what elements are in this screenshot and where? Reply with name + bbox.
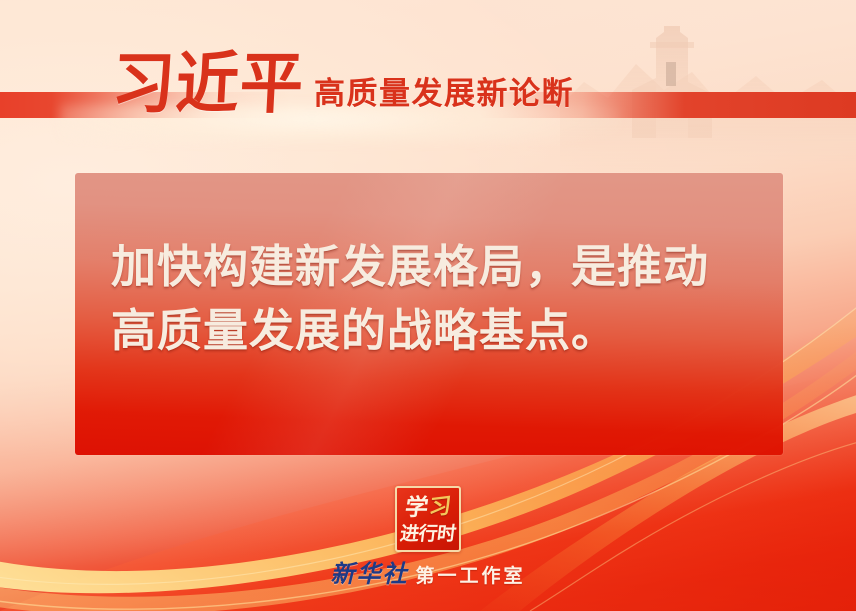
poster-footer: 学 习 进行时 新华社 第一工作室 xyxy=(0,486,856,586)
logo-char-xue: 学 xyxy=(403,497,429,520)
poster-root: 习近平 高质量发展新论断 加快构建新发展格局，是推动高质量发展的战略基点。 学 … xyxy=(0,0,856,611)
logo-char-xi: 习 xyxy=(428,496,452,521)
page-title: 习近平 xyxy=(110,50,305,117)
credit-line: 新华社 第一工作室 xyxy=(330,562,525,586)
logo-bottom-row: 进行时 xyxy=(399,525,457,544)
poster-header: 习近平 高质量发展新论断 xyxy=(112,52,574,115)
credit-agency: 新华社 xyxy=(330,562,408,586)
tower-landscape-watermark-icon xyxy=(560,0,856,176)
xue-xi-jin-xing-shi-logo-icon: 学 习 进行时 xyxy=(395,486,461,552)
quote-text: 加快构建新发展格局，是推动高质量发展的战略基点。 xyxy=(75,173,783,363)
page-subtitle: 高质量发展新论断 xyxy=(314,79,574,115)
logo-top-row: 学 习 xyxy=(405,495,451,522)
quote-card: 加快构建新发展格局，是推动高质量发展的战略基点。 xyxy=(75,173,783,455)
credit-studio: 第一工作室 xyxy=(415,567,525,586)
